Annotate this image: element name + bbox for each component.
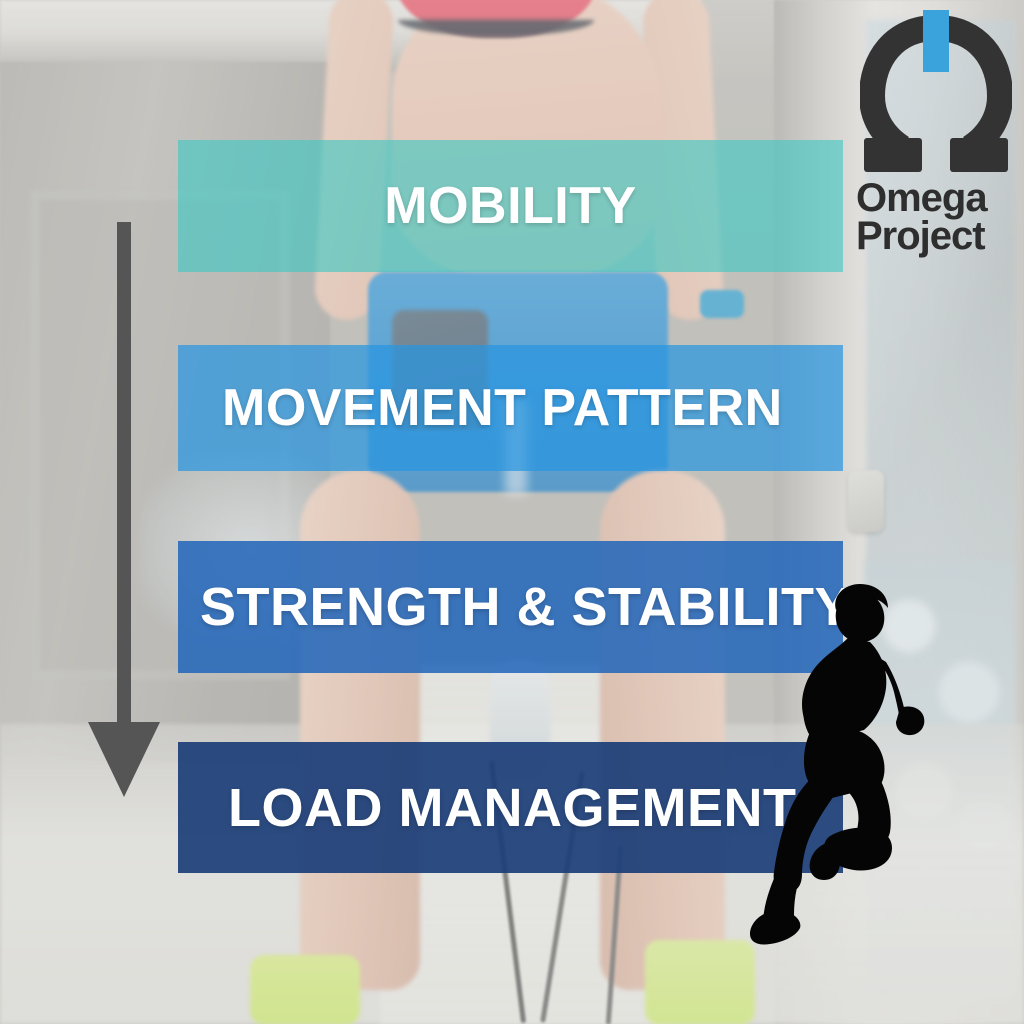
tier-label-mobility: MOBILITY [384, 180, 636, 232]
infographic-canvas: MOBILITY MOVEMENT PATTERN STRENGTH & STA… [0, 0, 1024, 1024]
tier-label-movement-pattern: MOVEMENT PATTERN [222, 382, 783, 434]
tier-bar-movement-pattern[interactable]: MOVEMENT PATTERN [178, 345, 843, 471]
omega-project-logo[interactable]: Omega Project [852, 8, 1022, 258]
logo-line-2: Project [856, 218, 1022, 256]
logo-wordmark: Omega Project [856, 180, 1022, 255]
runner-silhouette-icon [744, 580, 974, 950]
omega-mark-icon [860, 8, 1012, 180]
tier-bar-mobility[interactable]: MOBILITY [178, 140, 843, 272]
logo-line-1: Omega [856, 180, 1022, 218]
progression-arrow-icon [86, 222, 162, 800]
tier-label-load-management: LOAD MANAGEMENT [228, 781, 796, 835]
